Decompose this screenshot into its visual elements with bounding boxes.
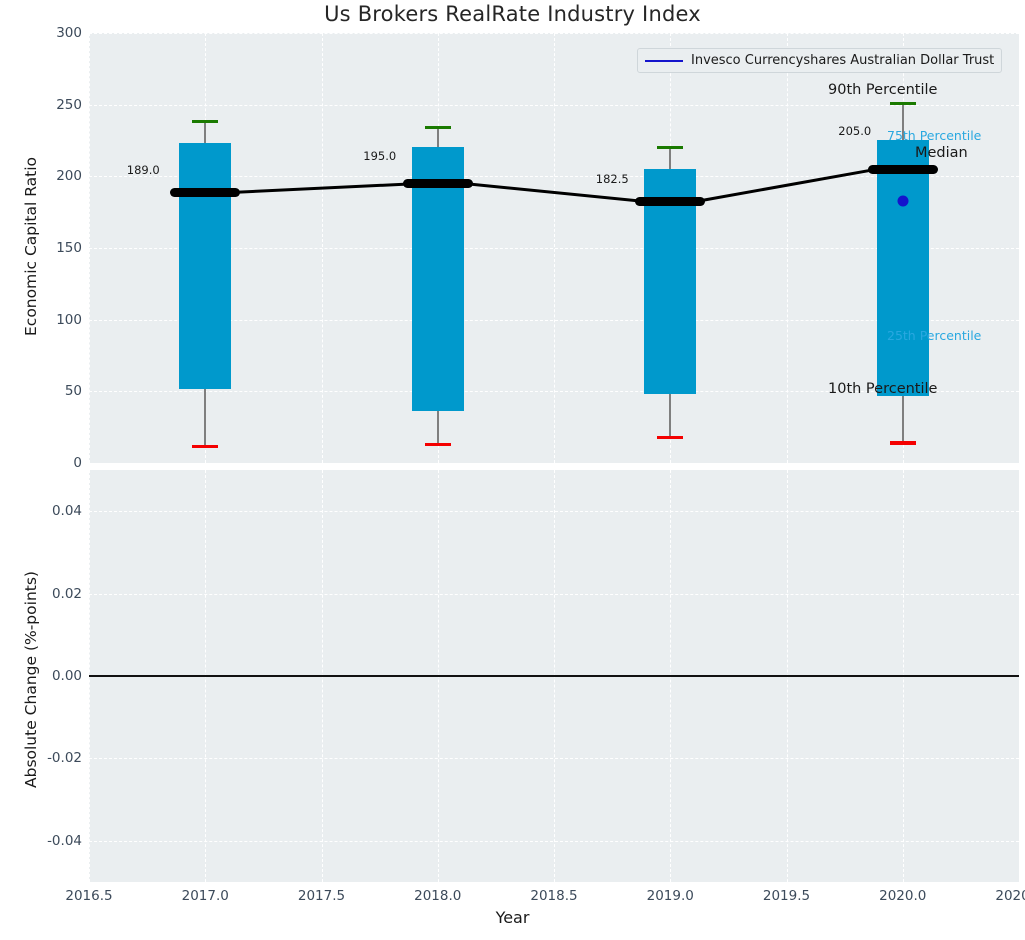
gridline-horizontal <box>89 758 1019 759</box>
y-axis-tick-top: 300 <box>20 25 82 41</box>
cap-90th-percentile <box>657 146 683 149</box>
annotation-25th-percentile: 25th Percentile <box>887 328 981 343</box>
median-marker <box>403 179 473 188</box>
x-axis-tick: 2019.5 <box>763 888 810 904</box>
median-marker <box>170 188 240 197</box>
x-axis-tick: 2018.5 <box>530 888 577 904</box>
gridline-horizontal <box>89 33 1019 34</box>
gridline-vertical <box>1019 33 1020 463</box>
x-axis-label: Year <box>0 908 1025 927</box>
chart-canvas: Us Brokers RealRate Industry Index 2016.… <box>0 0 1025 940</box>
median-marker <box>868 165 938 174</box>
zero-reference-line <box>89 675 1019 677</box>
gridline-horizontal <box>89 463 1019 464</box>
gridline-vertical <box>1019 470 1020 882</box>
y-axis-label-top: Economic Capital Ratio <box>22 157 40 336</box>
y-axis-tick-top: 50 <box>20 383 82 399</box>
cap-10th-percentile <box>890 441 916 444</box>
y-axis-tick-top: 0 <box>20 455 82 471</box>
legend[interactable]: Invesco Currencyshares Australian Dollar… <box>637 48 1002 73</box>
y-axis-tick-bottom: -0.02 <box>10 750 82 766</box>
y-axis-tick-top: 250 <box>20 97 82 113</box>
x-axis-tick: 2016.5 <box>65 888 112 904</box>
cap-90th-percentile <box>425 126 451 129</box>
annotation-90th-percentile: 90th Percentile <box>828 82 937 98</box>
chart-title: Us Brokers RealRate Industry Index <box>0 2 1025 26</box>
median-value-label: 195.0 <box>363 149 396 163</box>
annotation-75th-percentile: 75th Percentile <box>887 128 981 143</box>
cap-10th-percentile <box>425 443 451 446</box>
x-axis-tick: 2017.0 <box>182 888 229 904</box>
median-value-label: 189.0 <box>127 163 160 177</box>
x-axis-tick: 2017.5 <box>298 888 345 904</box>
annotation-median: Median <box>915 145 968 161</box>
x-axis-tick: 2020.0 <box>879 888 926 904</box>
gridline-horizontal <box>89 105 1019 106</box>
y-axis-tick-bottom: 0.00 <box>10 668 82 684</box>
median-value-label: 182.5 <box>596 172 629 186</box>
company-data-point[interactable] <box>897 195 908 206</box>
x-axis-tick: 2019.0 <box>647 888 694 904</box>
median-marker <box>635 197 705 206</box>
x-axis-tick: 2018.0 <box>414 888 461 904</box>
cap-10th-percentile <box>192 445 218 448</box>
cap-10th-percentile <box>657 436 683 439</box>
y-axis-label-bottom: Absolute Change (%-points) <box>22 571 40 788</box>
y-axis-tick-bottom: 0.02 <box>10 586 82 602</box>
gridline-horizontal <box>89 511 1019 512</box>
gridline-horizontal <box>89 841 1019 842</box>
annotation-10th-percentile: 10th Percentile <box>828 381 937 397</box>
gridline-horizontal <box>89 594 1019 595</box>
cap-90th-percentile <box>192 120 218 123</box>
x-axis-tick: 2020.5 <box>995 888 1025 904</box>
y-axis-tick-bottom: -0.04 <box>10 833 82 849</box>
legend-line-swatch <box>645 60 683 62</box>
legend-label: Invesco Currencyshares Australian Dollar… <box>691 53 994 68</box>
box-bar <box>179 143 231 389</box>
median-value-label: 205.0 <box>838 124 871 138</box>
box-bar <box>877 140 929 396</box>
y-axis-tick-bottom: 0.04 <box>10 503 82 519</box>
cap-90th-percentile <box>890 102 916 105</box>
